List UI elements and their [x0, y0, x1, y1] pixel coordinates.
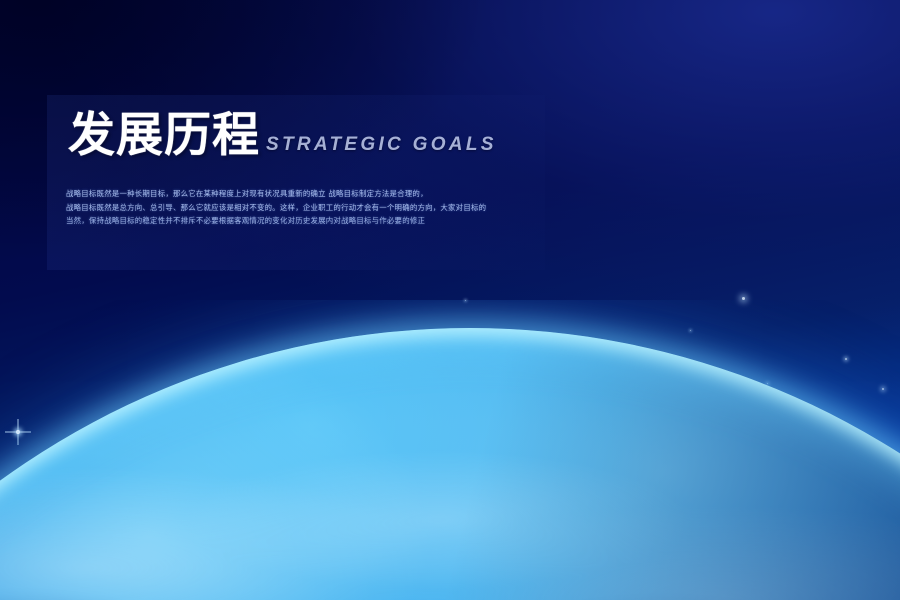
body-line-2: 战略目标既然是总方向、总引导、那么它就应该是相对不变的。这样，企业职工的行动才会… [66, 204, 546, 213]
page-subtitle-en: STRATEGIC GOALS [266, 134, 497, 159]
body-line-3: 当然，保持战略目标的稳定性并不排斥不必要根据客观情况的变化对历史发展内对战略目标… [66, 217, 546, 226]
page-title-cn: 发展历程 [68, 112, 260, 159]
body-copy: 战略目标既然是一种长期目标，那么它在某种程度上对现有状况具重新的确立 战略目标制… [66, 190, 546, 231]
earth-atmosphere-limb [0, 328, 900, 600]
headline-group: 发展历程 STRATEGIC GOALS [68, 112, 497, 159]
body-line-1: 战略目标既然是一种长期目标，那么它在某种程度上对现有状况具重新的确立 战略目标制… [66, 190, 546, 199]
banner-canvas: 发展历程 STRATEGIC GOALS 战略目标既然是一种长期目标，那么它在某… [0, 0, 900, 600]
earth-region [0, 300, 900, 600]
